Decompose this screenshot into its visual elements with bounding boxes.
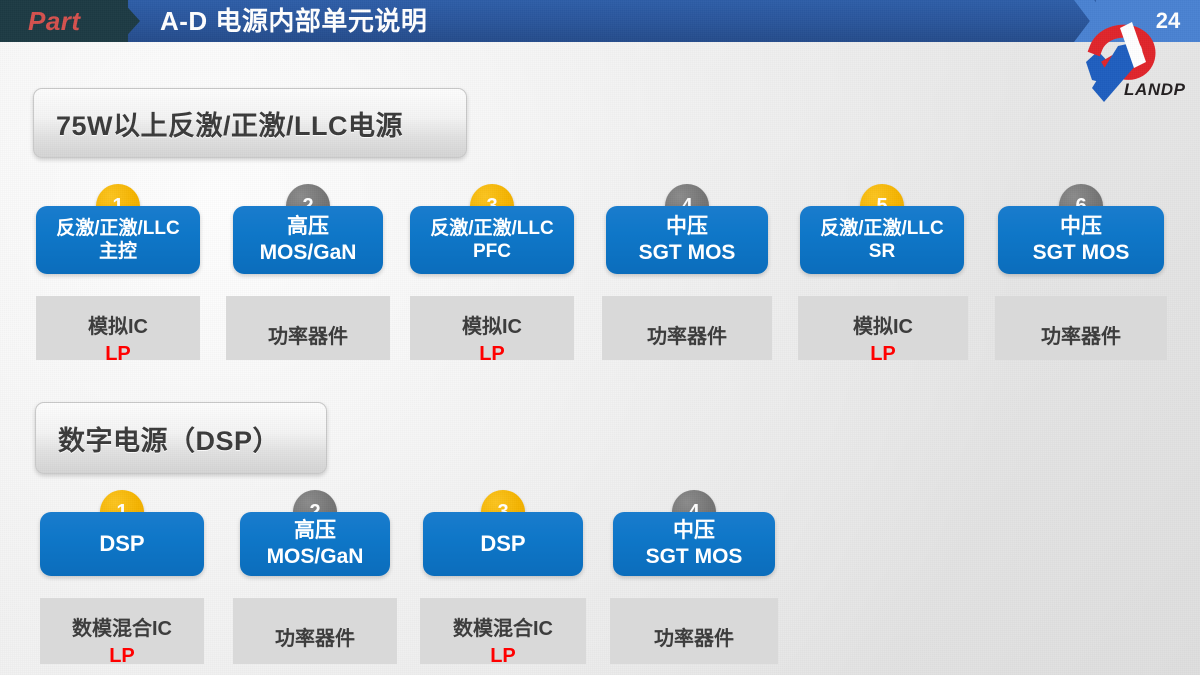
unit-line-1: DSP — [480, 531, 525, 558]
unit-category-panel: 功率器件 — [226, 296, 390, 360]
unit-category-text: 模拟IC — [462, 310, 522, 339]
unit-line-2: MOS/GaN — [260, 240, 357, 266]
unit-category-panel: 功率器件 — [602, 296, 772, 360]
unit-category-panel: 功率器件 — [610, 598, 778, 664]
unit-card[interactable]: 2高压MOS/GaN — [233, 184, 383, 296]
unit-category-panel: 模拟ICLP — [410, 296, 574, 360]
unit-line-1: 反激/正激/LLC — [430, 217, 554, 240]
section-title-plate: 数字电源（DSP） — [35, 402, 327, 474]
unit-category-text: 模拟IC — [853, 310, 913, 339]
unit-blue-box[interactable]: 高压MOS/GaN — [240, 512, 390, 576]
unit-blue-box[interactable]: DSP — [423, 512, 583, 576]
unit-category-panel: 模拟ICLP — [36, 296, 200, 360]
unit-category-text: 功率器件 — [647, 320, 727, 349]
unit-card[interactable]: 2高压MOS/GaN — [240, 490, 390, 598]
unit-tag-text: LP — [109, 645, 135, 668]
unit-category-panel: 功率器件 — [995, 296, 1167, 360]
header-part-label: Part — [28, 4, 81, 38]
unit-category-text: 数模混合IC — [453, 612, 553, 641]
unit-card[interactable]: 6中压SGT MOS — [998, 184, 1164, 296]
unit-line-1: 反激/正激/LLC — [820, 217, 944, 240]
unit-blue-box[interactable]: 中压SGT MOS — [998, 206, 1164, 274]
unit-line-2: MOS/GaN — [267, 544, 364, 570]
unit-blue-box[interactable]: 中压SGT MOS — [606, 206, 768, 274]
unit-card[interactable]: 5反激/正激/LLCSR — [800, 184, 964, 296]
unit-line-2: 主控 — [99, 240, 137, 263]
slide-header: Part A-D 电源内部单元说明 24 — [0, 0, 1200, 42]
unit-line-2: SGT MOS — [646, 544, 743, 570]
unit-line-1: 高压 — [287, 214, 329, 240]
unit-line-1: 中压 — [1060, 214, 1102, 240]
unit-blue-box[interactable]: 反激/正激/LLCSR — [800, 206, 964, 274]
unit-category-text: 功率器件 — [275, 622, 355, 651]
unit-line-1: 高压 — [294, 518, 336, 544]
unit-line-1: 中压 — [673, 518, 715, 544]
unit-card[interactable]: 1反激/正激/LLC主控 — [36, 184, 200, 296]
unit-blue-box[interactable]: 中压SGT MOS — [613, 512, 775, 576]
unit-category-panel: 模拟ICLP — [798, 296, 968, 360]
landp-logo: LANDP — [1068, 18, 1200, 110]
unit-line-2: SGT MOS — [639, 240, 736, 266]
unit-line-2: SR — [869, 240, 895, 263]
unit-card[interactable]: 3反激/正激/LLCPFC — [410, 184, 574, 296]
unit-card[interactable]: 1DSP — [40, 490, 204, 598]
unit-category-text: 数模混合IC — [72, 612, 172, 641]
unit-blue-box[interactable]: 反激/正激/LLC主控 — [36, 206, 200, 274]
unit-category-panel: 数模混合ICLP — [420, 598, 586, 664]
unit-category-panel: 数模混合ICLP — [40, 598, 204, 664]
unit-tag-text: LP — [870, 343, 896, 366]
unit-category-text: 功率器件 — [1041, 320, 1121, 349]
unit-tag-text: LP — [479, 343, 505, 366]
unit-category-panel: 功率器件 — [233, 598, 397, 664]
unit-card[interactable]: 4中压SGT MOS — [606, 184, 768, 296]
unit-blue-box[interactable]: DSP — [40, 512, 204, 576]
unit-card[interactable]: 3DSP — [423, 490, 583, 598]
unit-category-text: 功率器件 — [654, 622, 734, 651]
section-title-text: 75W以上反激/正激/LLC电源 — [34, 104, 403, 143]
unit-card[interactable]: 4中压SGT MOS — [613, 490, 775, 598]
unit-tag-text: LP — [105, 343, 131, 366]
page-title: A-D 电源内部单元说明 — [160, 3, 427, 39]
slide-canvas: Part A-D 电源内部单元说明 24 LANDP 75W以上反激/正激/LL… — [0, 0, 1200, 675]
unit-blue-box[interactable]: 反激/正激/LLCPFC — [410, 206, 574, 274]
unit-line-2: PFC — [473, 240, 511, 263]
unit-category-text: 模拟IC — [88, 310, 148, 339]
unit-line-1: 反激/正激/LLC — [56, 217, 180, 240]
unit-category-text: 功率器件 — [268, 320, 348, 349]
logo-wordmark: LANDP — [1124, 80, 1186, 100]
unit-line-1: 中压 — [666, 214, 708, 240]
unit-line-2: SGT MOS — [1033, 240, 1130, 266]
section-title-plate: 75W以上反激/正激/LLC电源 — [33, 88, 467, 158]
unit-tag-text: LP — [490, 645, 516, 668]
unit-line-1: DSP — [99, 531, 144, 558]
section-title-text: 数字电源（DSP） — [36, 419, 280, 458]
unit-blue-box[interactable]: 高压MOS/GaN — [233, 206, 383, 274]
